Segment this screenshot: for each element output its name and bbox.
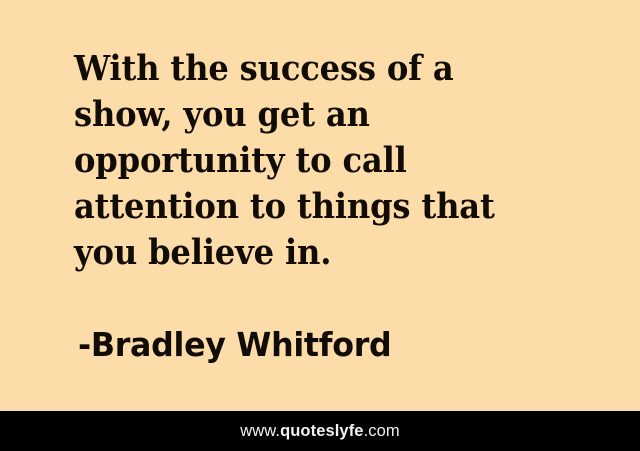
url-prefix: www. xyxy=(240,422,280,440)
quote-attribution: -Bradley Whitford xyxy=(78,323,391,367)
footer-bar: www.quoteslyfe.com xyxy=(0,411,640,451)
quote-image-card: With the success of a show, you get an o… xyxy=(0,0,640,451)
url-suffix: .com xyxy=(364,422,400,440)
footer-watermark-url: www.quoteslyfe.com xyxy=(240,422,400,441)
url-brand: quoteslyfe xyxy=(280,422,364,440)
quote-body: With the success of a show, you get an o… xyxy=(74,46,584,276)
quote-text: With the success of a show, you get an o… xyxy=(74,46,543,276)
